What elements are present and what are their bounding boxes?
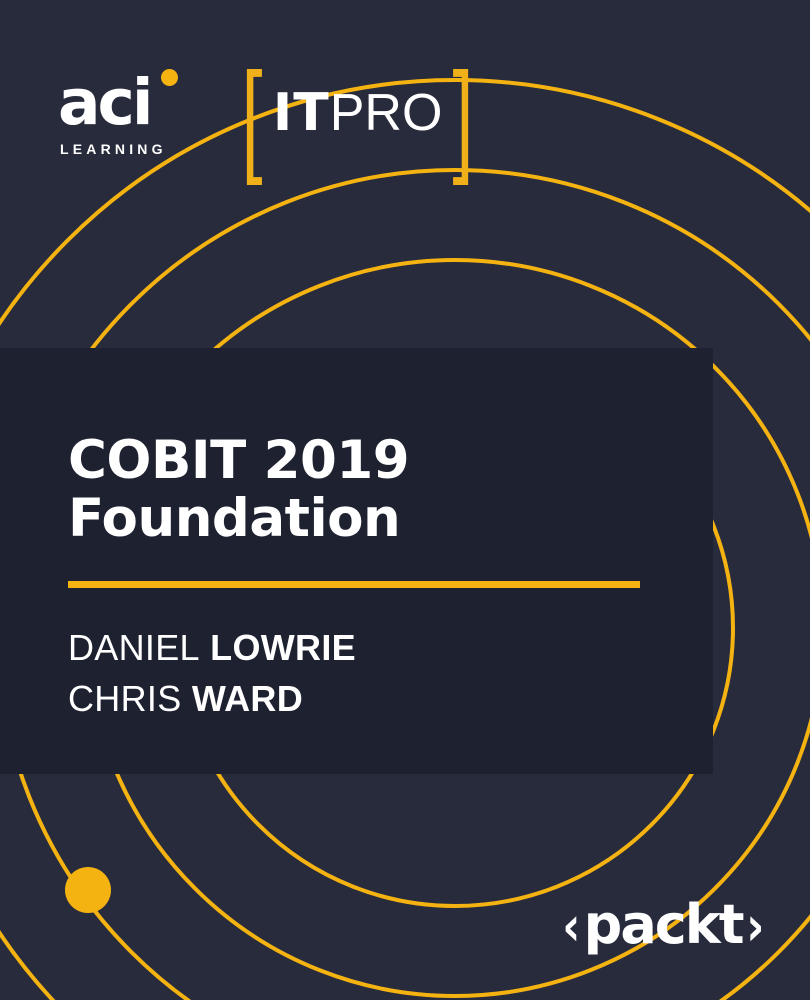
gold-dot-icon: [65, 867, 111, 913]
author-first-name: DANIEL: [68, 627, 200, 668]
left-bracket-icon: [: [241, 65, 262, 167]
author-row: CHRIS WARD: [68, 673, 668, 724]
author-row: DANIEL LOWRIE: [68, 622, 668, 673]
title-line-1: COBIT 2019: [68, 430, 409, 491]
right-bracket-icon: ]: [453, 65, 474, 167]
title-divider: [68, 581, 640, 588]
brand-bar: aci LEARNING [ ITPRO ]: [58, 62, 480, 170]
author-last-name: LOWRIE: [210, 627, 356, 668]
itpro-light-text: PRO: [330, 87, 443, 139]
book-cover: aci LEARNING [ ITPRO ] COBIT 2019 Founda…: [0, 0, 810, 1000]
aci-learning-logo: aci LEARNING: [58, 63, 180, 169]
aci-wordmark: aci: [58, 71, 150, 134]
itpro-logo: [ ITPRO ]: [235, 66, 480, 166]
itpro-bold-text: IT: [273, 87, 330, 139]
page-title: COBIT 2019 Foundation: [68, 432, 668, 548]
itpro-wordmark: ITPRO: [273, 87, 443, 145]
author-list: DANIEL LOWRIE CHRIS WARD: [68, 622, 668, 724]
title-block: COBIT 2019 Foundation DANIEL LOWRIE CHRI…: [68, 432, 668, 724]
angle-bracket-right-icon: ›: [746, 899, 764, 954]
angle-bracket-left-icon: ‹: [562, 899, 580, 954]
title-line-2: Foundation: [68, 488, 400, 549]
packt-wordmark: packt: [584, 898, 743, 955]
packt-logo: ‹ packt ›: [560, 898, 766, 954]
author-first-name: CHRIS: [68, 678, 182, 719]
author-last-name: WARD: [192, 678, 303, 719]
title-panel: COBIT 2019 Foundation DANIEL LOWRIE CHRI…: [0, 348, 713, 774]
aci-tagline: LEARNING: [60, 141, 167, 157]
aci-dot-icon: [161, 69, 178, 86]
